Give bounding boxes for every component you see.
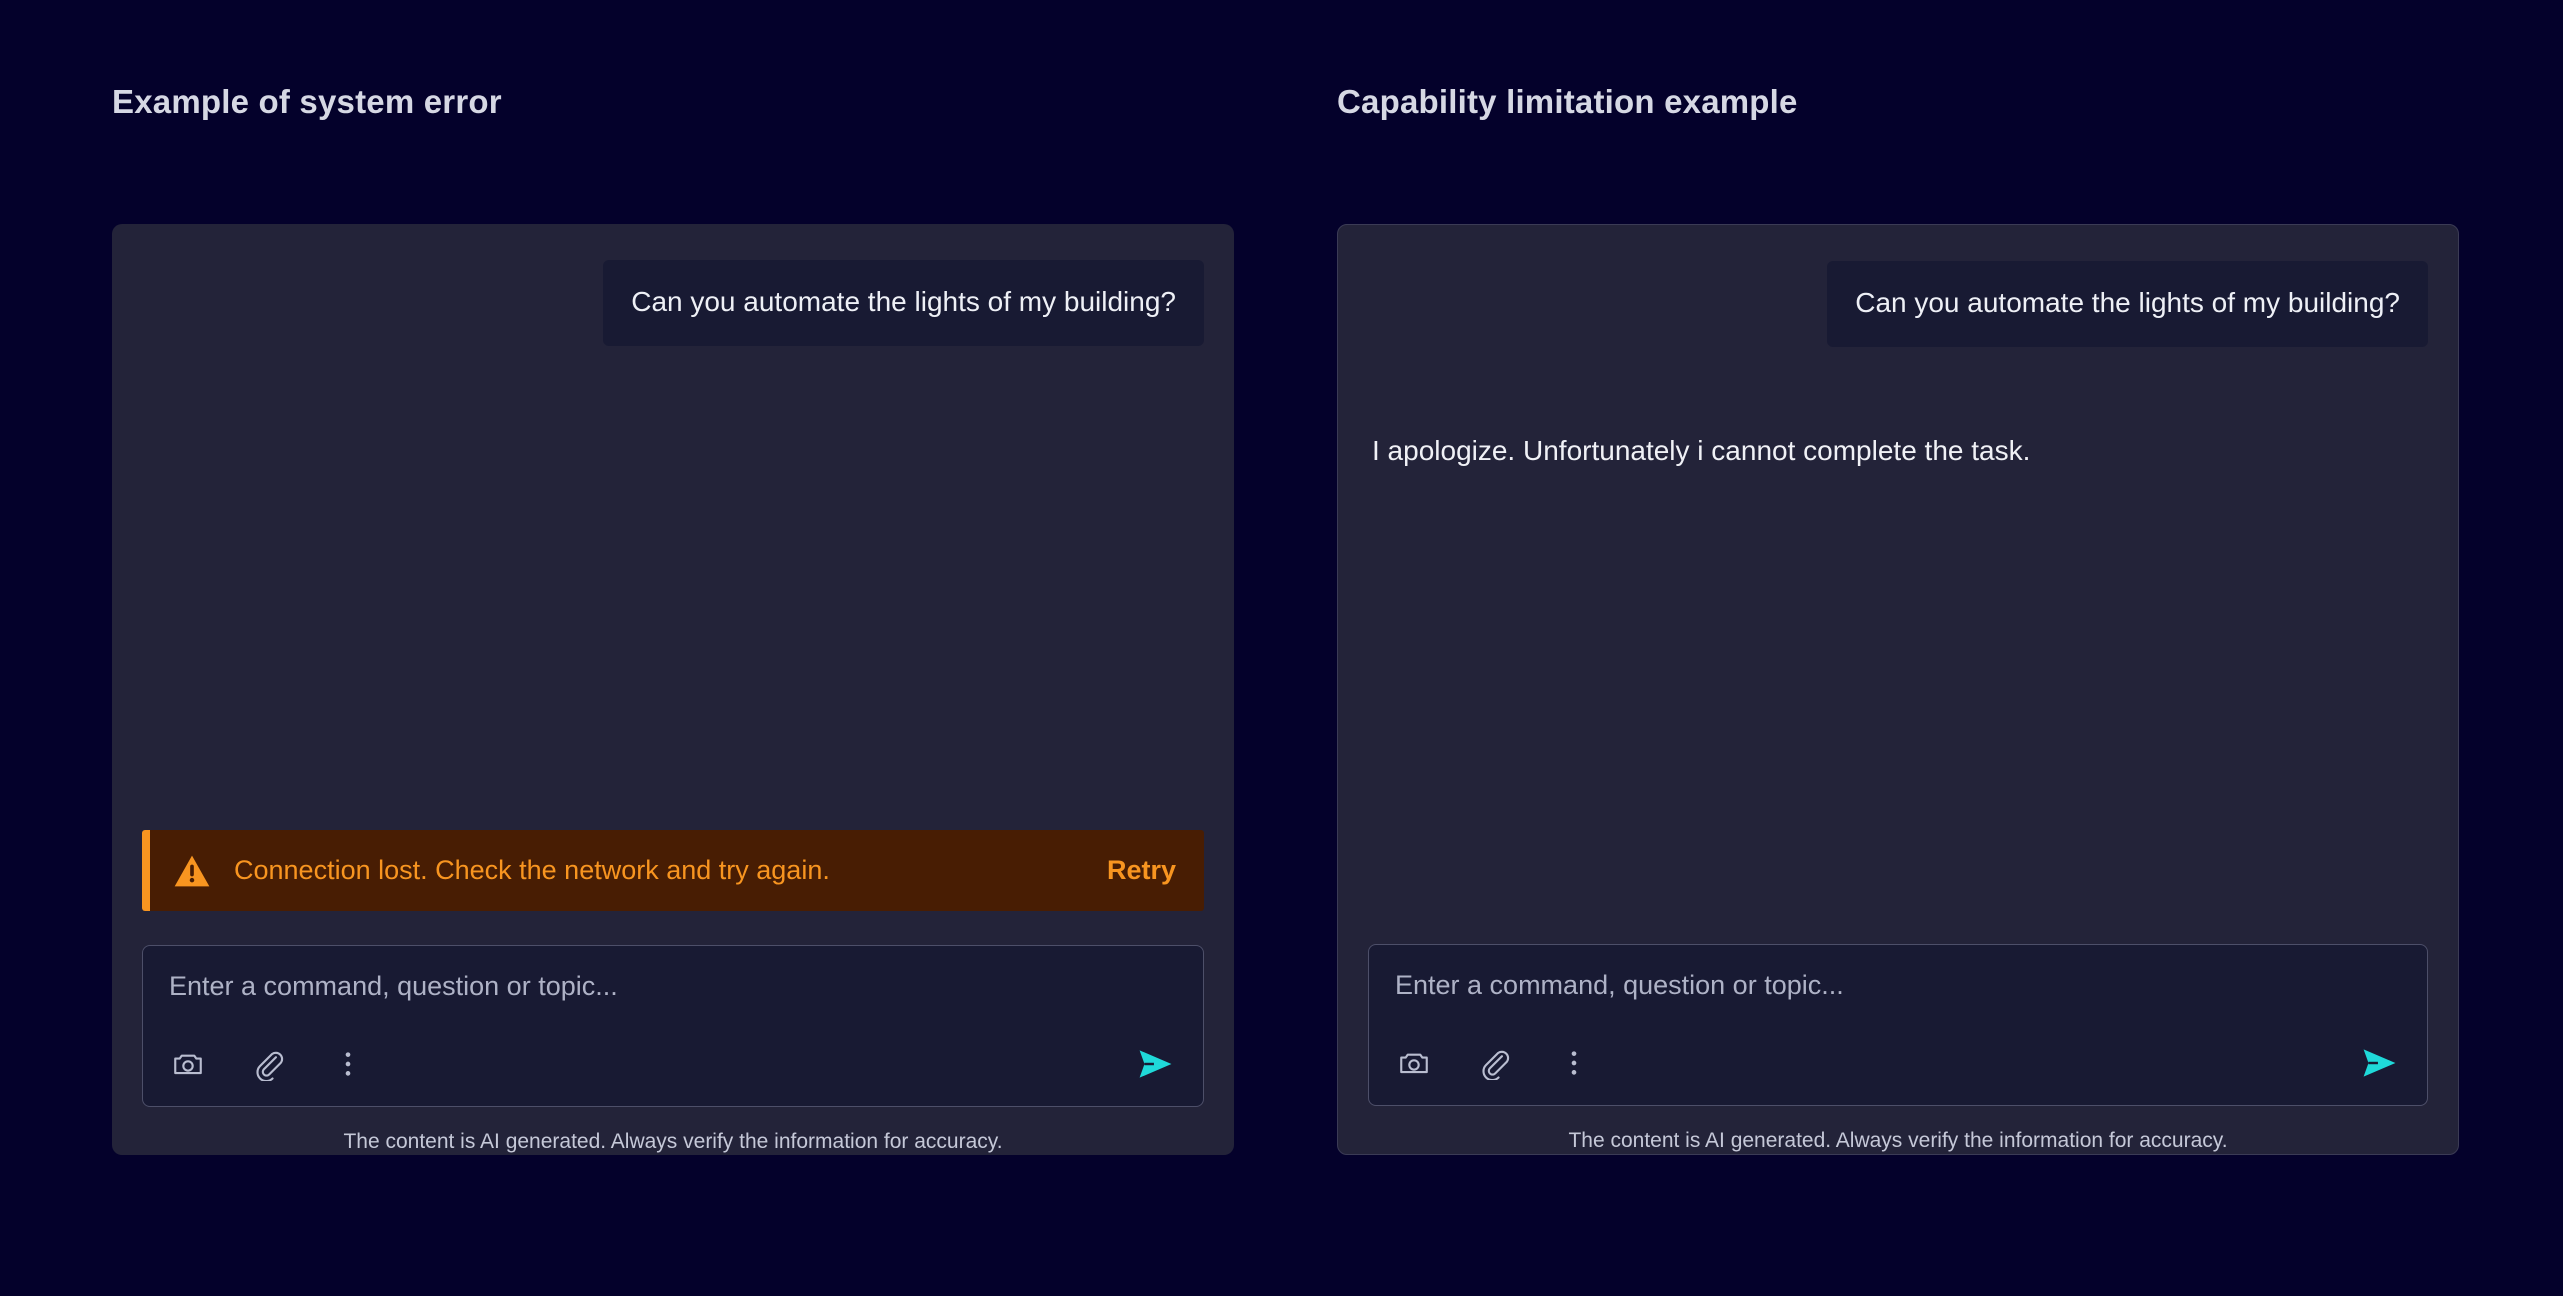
chat-panel-system-error: Can you automate the lights of my buildi… [112, 224, 1234, 1155]
page-title-system-error: Example of system error [112, 82, 1234, 122]
composer-actions [169, 1042, 1177, 1086]
message-row-user: Can you automate the lights of my buildi… [142, 260, 1204, 346]
search-input[interactable] [169, 970, 1177, 1002]
composer-system-error[interactable] [142, 945, 1204, 1107]
example-column-capability-limitation: Capability limitation example Can you au… [1337, 82, 2459, 1155]
retry-button[interactable]: Retry [1107, 855, 1176, 886]
message-list-system-error: Can you automate the lights of my buildi… [142, 252, 1204, 831]
messages-spacer [1368, 469, 2428, 944]
messages-spacer [142, 346, 1204, 830]
message-row-user: Can you automate the lights of my buildi… [1368, 261, 2428, 347]
error-message-text: Connection lost. Check the network and t… [234, 855, 1087, 886]
warning-triangle-icon [172, 851, 212, 891]
message-list-capability-limitation: Can you automate the lights of my buildi… [1368, 253, 2428, 945]
send-icon[interactable] [2357, 1041, 2401, 1085]
user-message-bubble: Can you automate the lights of my buildi… [1827, 261, 2428, 347]
ai-disclaimer-text: The content is AI generated. Always veri… [1368, 1106, 2428, 1153]
message-row-assistant: I apologize. Unfortunately i cannot comp… [1368, 433, 2428, 469]
chat-panel-capability-limitation: Can you automate the lights of my buildi… [1337, 224, 2459, 1155]
assistant-message-text: I apologize. Unfortunately i cannot comp… [1368, 433, 2034, 469]
more-options-icon[interactable] [329, 1045, 367, 1083]
camera-icon[interactable] [169, 1045, 207, 1083]
camera-icon[interactable] [1395, 1044, 1433, 1082]
page-title-capability-limitation: Capability limitation example [1337, 82, 2459, 122]
error-banner: Connection lost. Check the network and t… [142, 830, 1204, 911]
user-message-bubble: Can you automate the lights of my buildi… [603, 260, 1204, 346]
example-column-system-error: Example of system error Can you automate… [112, 82, 1234, 1155]
ai-disclaimer-text: The content is AI generated. Always veri… [142, 1107, 1204, 1154]
composer-actions [1395, 1041, 2401, 1085]
composer-tools [1395, 1044, 1593, 1082]
examples-container: Example of system error Can you automate… [0, 0, 2563, 1155]
page-root: Example of system error Can you automate… [0, 0, 2563, 1296]
search-input[interactable] [1395, 969, 2401, 1001]
composer-capability-limitation[interactable] [1368, 944, 2428, 1106]
attachment-icon[interactable] [249, 1045, 287, 1083]
send-icon[interactable] [1133, 1042, 1177, 1086]
attachment-icon[interactable] [1475, 1044, 1513, 1082]
more-options-icon[interactable] [1555, 1044, 1593, 1082]
composer-tools [169, 1045, 367, 1083]
